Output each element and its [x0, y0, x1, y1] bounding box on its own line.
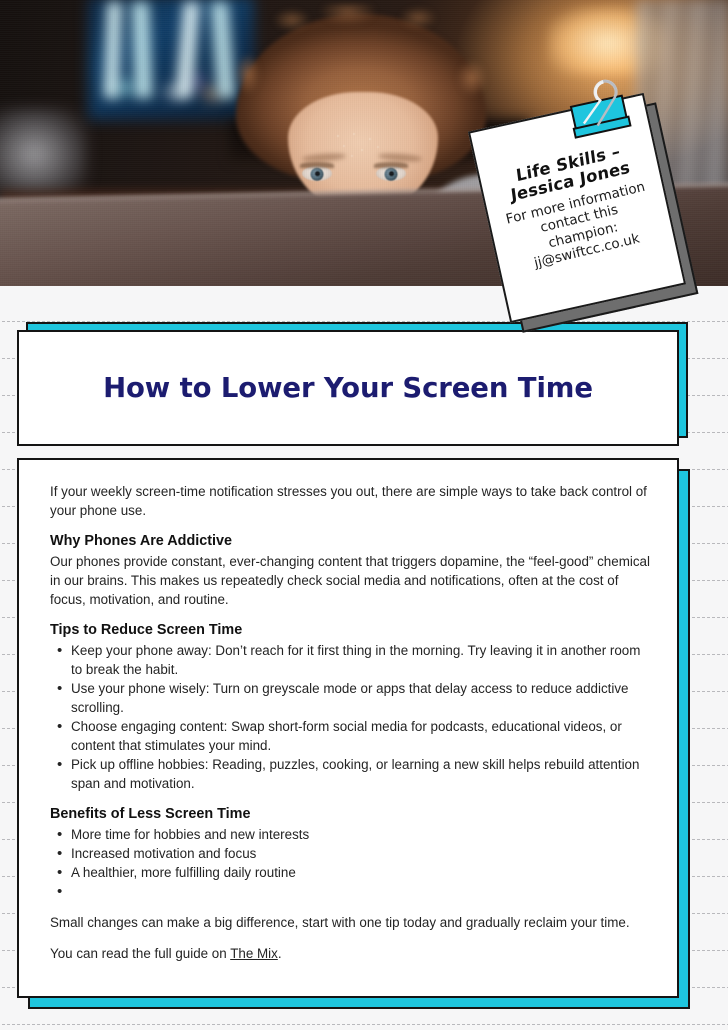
source-link[interactable]: The Mix — [230, 946, 278, 961]
title-card-face: How to Lower Your Screen Time — [17, 330, 679, 446]
source-prefix: You can read the full guide on — [50, 946, 230, 961]
list-item: More time for hobbies and new interests — [50, 825, 653, 844]
benefits-list: More time for hobbies and new interests … — [50, 825, 653, 901]
tips-list: Keep your phone away: Don’t reach for it… — [50, 641, 653, 793]
closing-paragraph: Small changes can make a big difference,… — [50, 913, 653, 932]
list-item: Increased motivation and focus — [50, 844, 653, 863]
section-paragraph-why-phones-are-addictive: Our phones provide constant, ever-changi… — [50, 552, 653, 609]
list-item: Pick up offline hobbies: Reading, puzzle… — [50, 755, 653, 793]
source-suffix: . — [278, 946, 282, 961]
intro-paragraph: If your weekly screen-time notification … — [50, 482, 653, 520]
article-card-face: If your weekly screen-time notification … — [17, 458, 679, 998]
section-heading-benefits-of-less-screen-time: Benefits of Less Screen Time — [50, 805, 653, 824]
list-item-empty — [50, 882, 653, 901]
section-heading-why-phones-are-addictive: Why Phones Are Addictive — [50, 532, 653, 551]
page-title: How to Lower Your Screen Time — [103, 372, 593, 404]
list-item: Choose engaging content: Swap short-form… — [50, 717, 653, 755]
list-item: Keep your phone away: Don’t reach for it… — [50, 641, 653, 679]
title-card: How to Lower Your Screen Time — [17, 330, 679, 446]
article-card: If your weekly screen-time notification … — [17, 458, 679, 998]
section-heading-tips-to-reduce-screen-time: Tips to Reduce Screen Time — [50, 621, 653, 640]
source-paragraph: You can read the full guide on The Mix. — [50, 944, 653, 963]
list-item: A healthier, more fulfilling daily routi… — [50, 863, 653, 882]
list-item: Use your phone wisely: Turn on greyscale… — [50, 679, 653, 717]
